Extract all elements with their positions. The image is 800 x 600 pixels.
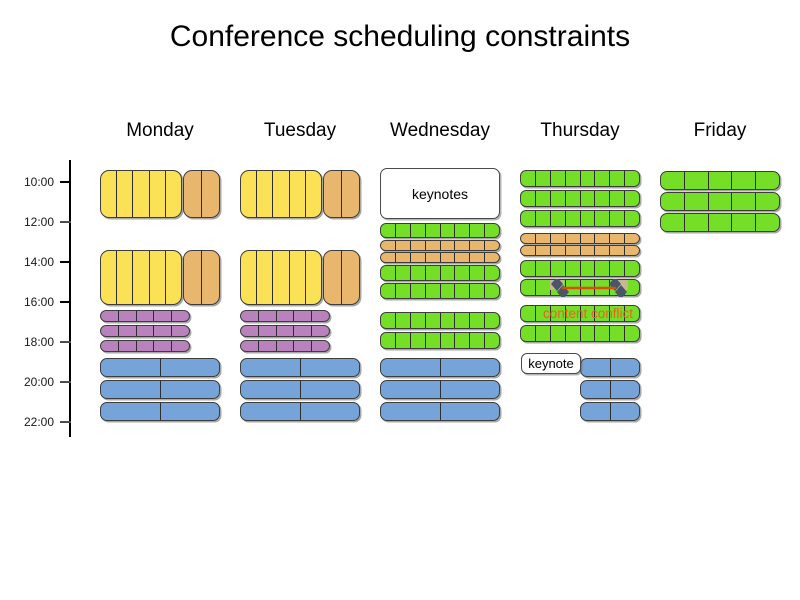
session-cell[interactable] <box>101 311 119 321</box>
session-cell[interactable] <box>566 211 581 226</box>
session-cell[interactable] <box>610 326 625 341</box>
conflict-double-arrow-icon <box>548 279 630 297</box>
session-cell[interactable] <box>301 359 360 376</box>
session-cell[interactable] <box>441 253 456 262</box>
session-cell[interactable] <box>521 261 536 276</box>
session-cell[interactable] <box>521 306 536 321</box>
session-cell[interactable] <box>536 234 551 243</box>
session-cell[interactable] <box>161 403 220 420</box>
session-cell[interactable] <box>381 333 396 348</box>
session-cell[interactable] <box>566 261 581 276</box>
session-cell[interactable] <box>441 403 500 420</box>
session-cell[interactable] <box>396 333 411 348</box>
session-cell[interactable] <box>277 311 295 321</box>
session-cell[interactable] <box>381 266 396 280</box>
session-cell[interactable] <box>625 246 639 255</box>
session-cell[interactable] <box>426 266 441 280</box>
session-cell[interactable] <box>411 224 426 237</box>
session-cell[interactable] <box>685 193 709 210</box>
session-block[interactable] <box>100 380 220 399</box>
session-cell[interactable] <box>411 284 426 298</box>
session-cell[interactable] <box>661 172 685 189</box>
session-cell[interactable] <box>426 284 441 298</box>
session-cell[interactable] <box>381 224 396 237</box>
session-cell[interactable] <box>257 171 273 217</box>
session-cell[interactable] <box>150 251 166 304</box>
session-cell[interactable] <box>732 172 756 189</box>
session-cell[interactable] <box>551 211 566 226</box>
day-header-monday: Monday <box>126 120 194 142</box>
session-cell[interactable] <box>101 251 117 304</box>
session-cell[interactable] <box>521 211 536 226</box>
session-cell[interactable] <box>485 253 499 262</box>
session-cell[interactable] <box>536 246 551 255</box>
session-cell[interactable] <box>611 381 640 398</box>
session-block[interactable] <box>580 402 640 421</box>
session-block[interactable] <box>380 332 500 349</box>
session-cell[interactable] <box>485 224 499 237</box>
session-cell[interactable] <box>470 266 485 280</box>
session-cell[interactable] <box>166 251 181 304</box>
day-header-tuesday: Tuesday <box>264 120 336 142</box>
session-cell[interactable] <box>273 251 289 304</box>
session-cell[interactable] <box>685 214 709 231</box>
session-cell[interactable] <box>396 266 411 280</box>
session-cell[interactable] <box>259 326 277 336</box>
session-cell[interactable] <box>470 241 485 250</box>
session-block[interactable] <box>660 192 780 211</box>
axis-tick-label: 16:00 <box>8 295 54 309</box>
session-cell[interactable] <box>536 261 551 276</box>
session-cell[interactable] <box>595 246 610 255</box>
session-block[interactable] <box>240 340 330 352</box>
session-cell[interactable] <box>290 251 306 304</box>
session-cell[interactable] <box>257 251 273 304</box>
session-cell[interactable] <box>202 251 219 304</box>
session-cell[interactable] <box>625 234 639 243</box>
session-cell[interactable] <box>521 280 536 295</box>
session-cell[interactable] <box>595 171 610 186</box>
axis-tick <box>60 261 71 263</box>
session-block[interactable] <box>660 171 780 190</box>
session-cell[interactable] <box>101 403 161 420</box>
session-block[interactable] <box>240 380 360 399</box>
session-cell[interactable] <box>241 251 257 304</box>
session-cell[interactable] <box>259 341 277 351</box>
day-header-wednesday: Wednesday <box>390 120 490 142</box>
session-cell[interactable] <box>455 253 470 262</box>
session-cell[interactable] <box>294 341 312 351</box>
session-cell[interactable] <box>756 193 779 210</box>
session-cell[interactable] <box>324 171 342 217</box>
session-cell[interactable] <box>324 251 342 304</box>
session-cell[interactable] <box>441 381 500 398</box>
session-block[interactable] <box>660 213 780 232</box>
session-cell[interactable] <box>566 234 581 243</box>
session-block[interactable] <box>323 250 360 305</box>
session-cell[interactable] <box>277 341 295 351</box>
session-cell[interactable] <box>426 313 441 328</box>
conflict-label: content conflict <box>543 306 633 321</box>
session-cell[interactable] <box>625 211 639 226</box>
session-block[interactable] <box>520 233 640 244</box>
session-cell[interactable] <box>470 284 485 298</box>
session-block[interactable] <box>240 310 330 322</box>
session-cell[interactable] <box>161 359 220 376</box>
session-cell[interactable] <box>470 333 485 348</box>
session-cell[interactable] <box>625 191 639 206</box>
session-cell[interactable] <box>119 311 137 321</box>
chart-canvas: Conference scheduling constraints Monday… <box>0 0 800 600</box>
session-cell[interactable] <box>536 326 551 341</box>
session-cell[interactable] <box>172 326 189 336</box>
session-cell[interactable] <box>154 311 172 321</box>
session-cell[interactable] <box>101 341 119 351</box>
session-cell[interactable] <box>521 326 536 341</box>
session-cell[interactable] <box>709 193 733 210</box>
session-block[interactable] <box>380 265 500 281</box>
session-cell[interactable] <box>426 333 441 348</box>
session-block[interactable] <box>380 252 500 263</box>
session-cell[interactable] <box>685 172 709 189</box>
session-block[interactable] <box>580 380 640 399</box>
session-cell[interactable] <box>381 359 441 376</box>
session-cell[interactable] <box>381 284 396 298</box>
session-block[interactable] <box>240 402 360 421</box>
session-cell[interactable] <box>396 253 411 262</box>
session-cell[interactable] <box>485 241 499 250</box>
session-cell[interactable] <box>396 284 411 298</box>
session-cell[interactable] <box>161 381 220 398</box>
axis-tick-label: 18:00 <box>8 335 54 349</box>
session-cell[interactable] <box>595 191 610 206</box>
session-cell[interactable] <box>470 313 485 328</box>
session-cell[interactable] <box>396 224 411 237</box>
axis-tick-label: 10:00 <box>8 175 54 189</box>
axis-tick <box>60 421 71 423</box>
session-cell[interactable] <box>101 381 161 398</box>
session-cell[interactable] <box>581 234 596 243</box>
session-cell[interactable] <box>101 326 119 336</box>
session-cell[interactable] <box>610 211 625 226</box>
session-cell[interactable] <box>137 311 155 321</box>
session-cell[interactable] <box>581 191 596 206</box>
session-block[interactable] <box>100 325 190 337</box>
keynotes-label[interactable]: keynotes <box>380 168 500 219</box>
session-cell[interactable] <box>133 171 149 217</box>
axis-tick <box>60 381 71 383</box>
session-cell[interactable] <box>342 171 359 217</box>
session-block[interactable] <box>580 358 640 377</box>
session-cell[interactable] <box>611 403 640 420</box>
session-cell[interactable] <box>290 171 306 217</box>
session-cell[interactable] <box>756 214 779 231</box>
session-block[interactable] <box>380 358 500 377</box>
session-cell[interactable] <box>551 326 566 341</box>
session-cell[interactable] <box>277 326 295 336</box>
session-cell[interactable] <box>381 403 441 420</box>
session-cell[interactable] <box>625 171 639 186</box>
day-header-thursday: Thursday <box>540 120 619 142</box>
session-cell[interactable] <box>426 253 441 262</box>
session-block[interactable] <box>520 210 640 227</box>
session-cell[interactable] <box>241 311 259 321</box>
session-block[interactable] <box>240 358 360 377</box>
session-cell[interactable] <box>381 253 396 262</box>
session-cell[interactable] <box>241 403 301 420</box>
session-block[interactable] <box>380 240 500 251</box>
session-cell[interactable] <box>312 311 329 321</box>
session-cell[interactable] <box>396 313 411 328</box>
session-cell[interactable] <box>381 241 396 250</box>
session-cell[interactable] <box>551 261 566 276</box>
session-cell[interactable] <box>566 191 581 206</box>
session-block[interactable] <box>240 170 322 218</box>
session-cell[interactable] <box>294 326 312 336</box>
session-block[interactable] <box>100 402 220 421</box>
session-cell[interactable] <box>154 326 172 336</box>
session-block[interactable] <box>380 312 500 329</box>
session-block[interactable] <box>100 340 190 352</box>
session-cell[interactable] <box>566 326 581 341</box>
session-cell[interactable] <box>581 246 596 255</box>
session-cell[interactable] <box>581 359 611 376</box>
session-block[interactable] <box>240 325 330 337</box>
session-cell[interactable] <box>150 171 166 217</box>
axis-tick-label: 12:00 <box>8 215 54 229</box>
session-cell[interactable] <box>485 333 499 348</box>
session-cell[interactable] <box>581 261 596 276</box>
session-block[interactable] <box>183 250 220 305</box>
session-cell[interactable] <box>551 191 566 206</box>
session-cell[interactable] <box>306 251 321 304</box>
session-cell[interactable] <box>485 266 499 280</box>
session-cell[interactable] <box>455 241 470 250</box>
session-cell[interactable] <box>661 214 685 231</box>
session-cell[interactable] <box>241 326 259 336</box>
session-cell[interactable] <box>625 261 639 276</box>
session-cell[interactable] <box>184 251 202 304</box>
session-cell[interactable] <box>551 246 566 255</box>
session-cell[interactable] <box>441 224 456 237</box>
session-cell[interactable] <box>455 313 470 328</box>
session-cell[interactable] <box>441 359 500 376</box>
session-cell[interactable] <box>172 341 189 351</box>
session-cell[interactable] <box>441 266 456 280</box>
session-cell[interactable] <box>133 251 149 304</box>
session-block[interactable] <box>520 325 640 342</box>
session-cell[interactable] <box>521 246 536 255</box>
session-cell[interactable] <box>485 284 499 298</box>
session-cell[interactable] <box>101 171 117 217</box>
session-cell[interactable] <box>301 381 360 398</box>
session-cell[interactable] <box>241 341 259 351</box>
session-cell[interactable] <box>470 224 485 237</box>
session-block[interactable] <box>520 245 640 256</box>
session-block[interactable] <box>380 380 500 399</box>
session-cell[interactable] <box>536 171 551 186</box>
session-cell[interactable] <box>411 333 426 348</box>
session-cell[interactable] <box>485 313 499 328</box>
session-cell[interactable] <box>441 241 456 250</box>
session-cell[interactable] <box>411 253 426 262</box>
axis-tick <box>60 221 71 223</box>
session-cell[interactable] <box>551 234 566 243</box>
session-cell[interactable] <box>301 403 360 420</box>
session-cell[interactable] <box>610 246 625 255</box>
session-cell[interactable] <box>595 211 610 226</box>
session-cell[interactable] <box>455 266 470 280</box>
session-cell[interactable] <box>521 191 536 206</box>
session-block[interactable] <box>380 402 500 421</box>
session-cell[interactable] <box>117 251 133 304</box>
session-cell[interactable] <box>137 341 155 351</box>
session-cell[interactable] <box>306 171 321 217</box>
session-cell[interactable] <box>536 191 551 206</box>
axis-tick <box>60 341 71 343</box>
session-cell[interactable] <box>756 172 779 189</box>
session-cell[interactable] <box>455 224 470 237</box>
session-cell[interactable] <box>426 241 441 250</box>
session-block[interactable] <box>100 250 182 305</box>
session-cell[interactable] <box>342 251 359 304</box>
session-cell[interactable] <box>581 326 596 341</box>
session-cell[interactable] <box>455 284 470 298</box>
session-cell[interactable] <box>381 381 441 398</box>
session-cell[interactable] <box>441 313 456 328</box>
session-cell[interactable] <box>470 253 485 262</box>
session-block[interactable] <box>520 170 640 187</box>
session-cell[interactable] <box>241 359 301 376</box>
session-cell[interactable] <box>241 381 301 398</box>
session-cell[interactable] <box>595 234 610 243</box>
session-cell[interactable] <box>581 211 596 226</box>
axis-tick <box>60 181 71 183</box>
session-cell[interactable] <box>137 326 155 336</box>
session-block[interactable] <box>183 170 220 218</box>
session-block[interactable] <box>380 223 500 238</box>
session-block[interactable] <box>520 190 640 207</box>
page-title: Conference scheduling constraints <box>0 20 800 54</box>
session-cell[interactable] <box>172 311 189 321</box>
axis-spine <box>69 160 71 437</box>
session-cell[interactable] <box>709 172 733 189</box>
session-cell[interactable] <box>241 171 257 217</box>
session-cell[interactable] <box>273 171 289 217</box>
session-cell[interactable] <box>581 171 596 186</box>
axis-tick-label: 14:00 <box>8 255 54 269</box>
session-cell[interactable] <box>312 326 329 336</box>
session-cell[interactable] <box>411 266 426 280</box>
session-cell[interactable] <box>396 241 411 250</box>
session-cell[interactable] <box>411 313 426 328</box>
day-header-friday: Friday <box>694 120 747 142</box>
session-cell[interactable] <box>732 214 756 231</box>
session-cell[interactable] <box>426 224 441 237</box>
session-cell[interactable] <box>441 333 456 348</box>
keynote-label[interactable]: keynote <box>521 353 581 374</box>
session-cell[interactable] <box>411 241 426 250</box>
session-cell[interactable] <box>184 171 202 217</box>
session-cell[interactable] <box>610 191 625 206</box>
session-cell[interactable] <box>117 171 133 217</box>
session-cell[interactable] <box>166 171 181 217</box>
session-cell[interactable] <box>312 341 329 351</box>
session-cell[interactable] <box>202 171 219 217</box>
axis-tick-label: 20:00 <box>8 375 54 389</box>
session-block[interactable] <box>100 310 190 322</box>
session-cell[interactable] <box>581 403 611 420</box>
session-cell[interactable] <box>551 171 566 186</box>
session-cell[interactable] <box>610 171 625 186</box>
axis-tick <box>60 301 71 303</box>
session-cell[interactable] <box>381 313 396 328</box>
session-cell[interactable] <box>595 261 610 276</box>
session-cell[interactable] <box>661 193 685 210</box>
session-cell[interactable] <box>610 234 625 243</box>
session-cell[interactable] <box>119 326 137 336</box>
session-block[interactable] <box>100 358 220 377</box>
session-cell[interactable] <box>566 171 581 186</box>
session-block[interactable] <box>240 250 322 305</box>
session-cell[interactable] <box>732 193 756 210</box>
session-cell[interactable] <box>581 381 611 398</box>
session-cell[interactable] <box>611 359 640 376</box>
session-cell[interactable] <box>521 171 536 186</box>
session-block[interactable] <box>520 260 640 277</box>
session-cell[interactable] <box>101 359 161 376</box>
session-cell[interactable] <box>154 341 172 351</box>
session-cell[interactable] <box>455 333 470 348</box>
session-cell[interactable] <box>259 311 277 321</box>
session-cell[interactable] <box>625 326 639 341</box>
session-cell[interactable] <box>294 311 312 321</box>
session-cell[interactable] <box>119 341 137 351</box>
session-cell[interactable] <box>595 326 610 341</box>
session-cell[interactable] <box>521 234 536 243</box>
session-block[interactable] <box>323 170 360 218</box>
session-cell[interactable] <box>441 284 456 298</box>
session-cell[interactable] <box>709 214 733 231</box>
session-cell[interactable] <box>536 211 551 226</box>
axis-tick-label: 22:00 <box>8 415 54 429</box>
session-cell[interactable] <box>610 261 625 276</box>
session-block[interactable] <box>100 170 182 218</box>
session-cell[interactable] <box>566 246 581 255</box>
session-block[interactable] <box>380 283 500 299</box>
